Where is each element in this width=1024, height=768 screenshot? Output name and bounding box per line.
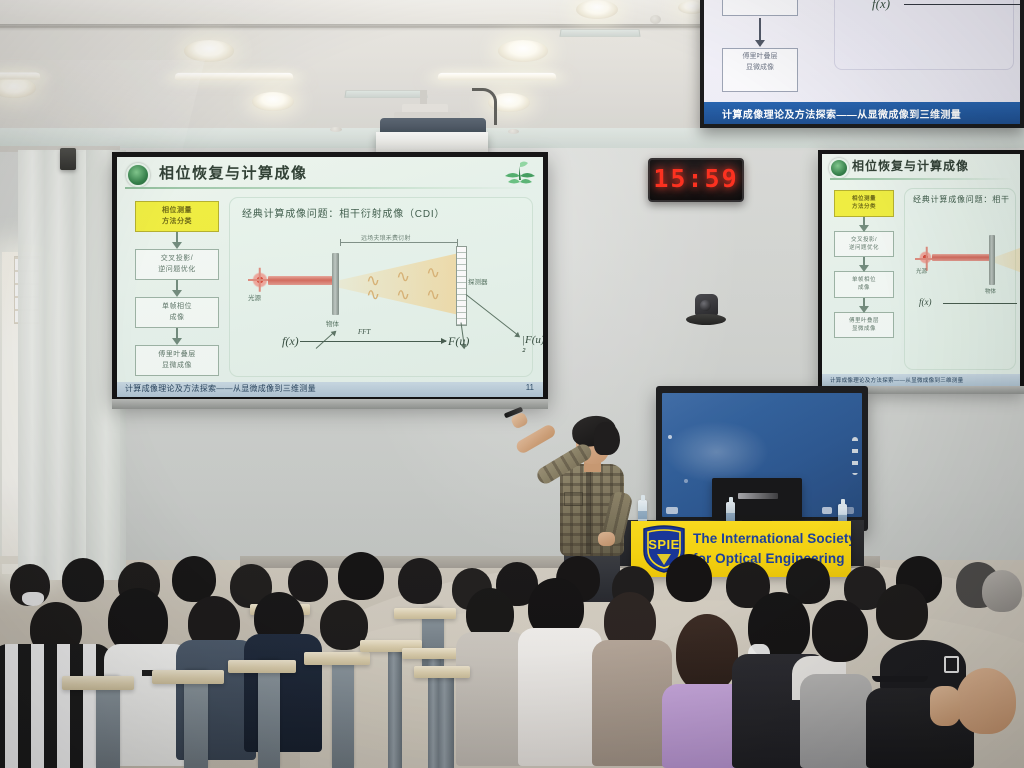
side-light-source-icon [919,251,932,264]
top-monitor-banner-text: 计算成像理论及方法探索——从显微成像到三维测量 [722,106,961,121]
ptz-camera-base [686,314,726,325]
side-slide-footer-text: 计算成像理论及方法探索——从显微成像到三维测量 [830,376,963,384]
flow-step-4: 傅里叶叠层 显微成像 [135,345,219,376]
side-flow-step-1: 相位测量 方法分类 [834,190,894,217]
ceiling-panel-light [437,73,557,80]
screen-bottom-bar [112,399,548,409]
top-monitor-math-input: f(x) [872,0,890,12]
flow-step-2-line2: 逆问题优化 [138,265,216,276]
flow-step-4-line1: 傅里叶叠层 [138,350,216,361]
side-flow-1-line1: 相位测量 [837,195,891,203]
slide-footer-text: 计算成像理论及方法探索——从显微成像到三维测量 [125,383,316,394]
audience-area [0,548,1024,768]
top-monitor-arrow [759,18,761,40]
slide-title: 相位恢复与计算成像 [159,162,308,183]
side-cdi-title: 经典计算成像问题：相干 [913,194,1010,205]
side-slide-header: 相位恢复与计算成像 [822,154,1020,180]
wave-squiggle-icon: ∿ [396,268,410,285]
top-monitor-slide: 单帧相位 成像 傅里叶叠层 显微成像 f(x) 计算成像理论及方法探索——从显微… [704,0,1020,124]
wall-speaker [60,148,76,170]
math-output-fu: F(u) [448,334,469,349]
wave-squiggle-icon: ∿ [396,286,410,303]
top-monitor-box-2-line2: 显微成像 [725,63,795,74]
math-intensity: |F(u)|² [522,334,543,358]
wave-squiggle-icon: ∿ [366,286,380,303]
side-flow-2-line1: 交叉投影/ [837,236,891,244]
audience-head-gray [982,570,1022,612]
flow-step-1-line2: 方法分类 [138,217,216,228]
side-object-plate [989,235,995,285]
flat-panel-corner-button[interactable] [822,507,832,514]
smoke-detector-icon [650,15,661,24]
object-plate-icon [332,253,339,315]
desk-surface [394,608,456,619]
ceiling-downlight [498,40,548,62]
side-flow-step-4: 傅里叶叠层 显微成像 [834,312,894,339]
object-leader-line [316,331,336,349]
side-flow-step-3: 单帧相位 成像 [834,271,894,298]
top-monitor-box-1: 单帧相位 成像 [722,0,798,16]
flow-step-2-line1: 交叉投影/ [138,254,216,265]
laser-beam [268,276,334,285]
side-slide: 相位恢复与计算成像 相位测量 方法分类 交叉投影/ 逆问题优化 单帧相位 成像 [822,154,1020,386]
audience-torso-white [518,628,602,766]
top-monitor-box-2: 傅里叶叠层 显微成像 [722,48,798,92]
side-math-arrow [943,303,1017,304]
flow-step-3: 单帧相位 成像 [135,297,219,328]
side-object-label: 物体 [985,287,996,295]
desk-surface [152,670,224,684]
desk-surface [62,676,134,690]
flow-step-3-line2: 成像 [138,313,216,324]
ceiling-air-vent [559,29,640,36]
ptz-camera-lens [700,300,711,311]
audience-head [338,552,384,600]
side-flow-4-line2: 显微成像 [837,325,891,333]
audience-head-ponytail [676,614,738,692]
flow-step-4-line2: 显微成像 [138,361,216,372]
slide-page-number: 11 [526,383,534,392]
side-flow-4-line1: 傅里叶叠层 [837,317,891,325]
audience-head [812,600,868,662]
cdi-diagram-panel: 经典计算成像问题：相干衍射成像（CDI） 光源 物体 ∿ ∿ ∿ ∿ ∿ ∿ 远… [229,197,533,377]
wave-squiggle-icon: ∿ [426,286,440,303]
ceiling-downlight [184,40,234,62]
smoke-detector-icon [330,127,342,132]
university-emblem-icon [126,163,150,187]
audience-head [666,554,712,602]
side-slide-flowchart: 相位测量 方法分类 交叉投影/ 逆问题优化 单帧相位 成像 傅里叶叠层 显微成像 [834,190,894,338]
seat-back [332,652,354,768]
side-flow-arrow-1 [834,217,894,231]
monitor-brand-logo [738,493,778,499]
presenter-shirt-placket [586,466,591,554]
audience-head [876,584,928,640]
flow-step-3-line1: 单帧相位 [138,302,216,313]
flow-arrow-2 [135,280,219,297]
audience-head [288,560,328,602]
cap-brim [872,676,928,682]
side-flow-3-line1: 单帧相位 [837,276,891,284]
object-label: 物体 [326,318,339,328]
main-slide: 相位恢复与计算成像 相位测量 方法分类 [117,157,543,397]
side-diffraction-cone [995,235,1020,285]
math-input-fx: f(x) [282,334,299,349]
flow-step-1: 相位测量 方法分类 [135,201,219,232]
side-flow-3-line2: 成像 [837,284,891,292]
presenter-raised-forearm [514,423,557,455]
top-monitor-panel [834,0,1014,70]
screen-pixel-dot [684,479,688,483]
top-monitor-math-arrow [904,4,1020,5]
math-fft-label: FFT [358,328,370,336]
presenter-shirt-pocket [564,492,583,506]
seat-post [388,640,402,768]
audience-hand [930,686,960,726]
flat-panel-side-buttons[interactable] [852,437,858,475]
cap-buckle-icon [944,656,959,673]
side-flow-1-line2: 方法分类 [837,203,891,211]
smoke-detector-icon [508,129,519,134]
flow-step-1-line1: 相位测量 [138,206,216,217]
main-projection-screen[interactable]: 相位恢复与计算成像 相位测量 方法分类 [112,152,548,402]
distance-dimension-line [340,242,458,243]
flow-step-2: 交叉投影/ 逆问题优化 [135,249,219,280]
light-source-label: 光源 [248,292,261,302]
desk-surface [402,648,458,659]
side-cdi-panel: 经典计算成像问题：相干 光源 物体 f(x) [904,188,1016,370]
ceiling-downlight [576,0,618,19]
face-mask-icon [22,592,44,606]
audience-head [398,558,442,604]
desk-surface [304,652,370,665]
cdi-panel-title: 经典计算成像问题：相干衍射成像（CDI） [242,205,445,220]
ptz-camera-icon [686,292,726,326]
distance-label: 远场夫琅禾费衍射 [361,233,411,242]
light-source-icon [252,272,268,288]
ceiling-projector [372,92,496,154]
detector-leader-line [466,294,520,337]
top-monitor-banner: 计算成像理论及方法探索——从显微成像到三维测量 [704,102,1020,124]
university-emblem-icon [829,158,849,178]
slide-flowchart: 相位测量 方法分类 交叉投影/ 逆问题优化 单帧相位 成像 傅里叶叠层 显微成像 [135,201,219,376]
side-flow-arrow-3 [834,298,894,312]
ceiling-panel-light [174,73,294,80]
wave-squiggle-icon: ∿ [426,264,440,281]
side-slide-footer: 计算成像理论及方法探索——从显微成像到三维测量 [822,374,1020,386]
lotus-leaf-icon [503,160,537,186]
audience-head [956,668,1016,734]
spie-banner-line1: The International Society [693,529,851,549]
detector-label: 探测器 [468,276,488,286]
secondary-projection-screen[interactable]: 相位恢复与计算成像 相位测量 方法分类 交叉投影/ 逆问题优化 单帧相位 成像 [818,150,1024,390]
side-laser-beam [932,254,990,261]
slide-header-rule [125,187,535,189]
side-flow-arrow-2 [834,257,894,271]
fft-transform-arrow [300,341,446,342]
seat-post [438,666,454,768]
side-flow-2-line2: 逆问题优化 [837,244,891,252]
led-wall-clock: 15:59 [648,158,744,202]
ceiling-downlight [252,92,294,111]
presenter-right-hand [598,532,615,546]
top-wall-monitor[interactable]: 单帧相位 成像 傅里叶叠层 显微成像 f(x) 计算成像理论及方法探索——从显微… [700,0,1024,128]
side-slide-title: 相位恢复与计算成像 [852,157,969,174]
slide-header: 相位恢复与计算成像 [117,157,543,189]
desk-surface [228,660,296,673]
audience-head [172,556,216,602]
flow-arrow-3 [135,328,219,345]
audience-torso-brown [592,640,672,766]
seat-back [184,670,208,768]
desk-surface [414,666,470,678]
side-slide-header-rule [830,178,1012,180]
ceiling-panel-light [0,73,40,80]
flow-arrow-1 [135,232,219,249]
audience-torso-gray [800,674,872,768]
presenter-hair-back [594,422,620,455]
side-light-source-label: 光源 [916,267,927,275]
side-math-input: f(x) [919,297,932,307]
seat-back [258,660,280,768]
audience-head [62,558,104,602]
detector-array-icon [456,246,467,326]
clock-time: 15:59 [650,164,742,193]
top-monitor-box-2-line1: 傅里叶叠层 [725,52,795,63]
slide-footer: 计算成像理论及方法探索——从显微成像到三维测量 11 [117,382,543,397]
lecture-hall-photo: 单帧相位 成像 傅里叶叠层 显微成像 f(x) 计算成像理论及方法探索——从显微… [0,0,1024,768]
screen-glare [664,421,769,483]
side-flow-step-2: 交叉投影/ 逆问题优化 [834,231,894,258]
